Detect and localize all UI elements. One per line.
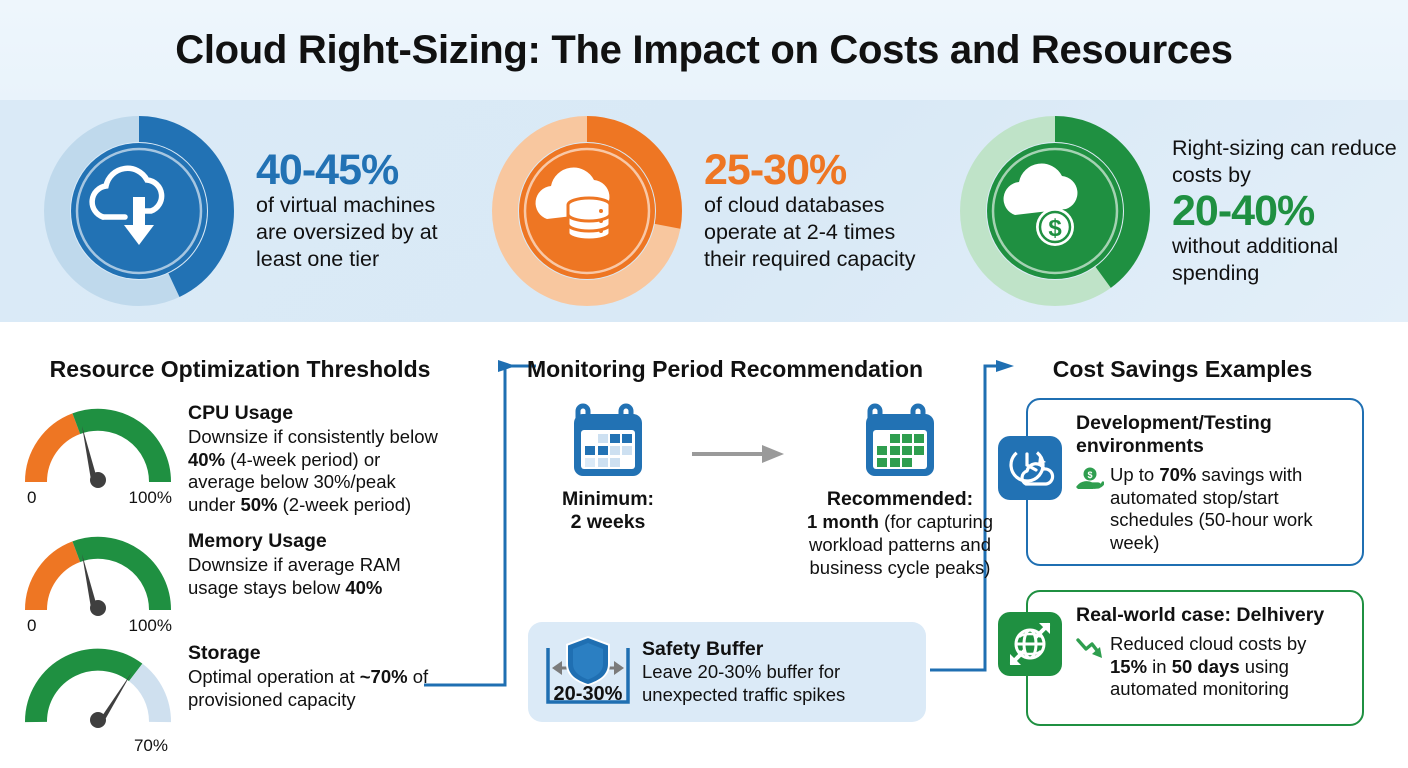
infographic-page: Cloud Right-Sizing: The Impact on Costs …: [0, 0, 1408, 768]
stat-value-db: 25-30%: [704, 149, 940, 192]
key-stats-band: 40-45% of virtual machines are oversized…: [0, 100, 1408, 322]
safety-buffer-measure-label: 20-30%: [554, 683, 623, 705]
gauge-storage: 70%: [18, 642, 178, 734]
stat-text-savings: Right-sizing can reduce costs by 20-40% …: [1150, 135, 1408, 286]
gauge-title-cpu: CPU Usage: [188, 402, 446, 425]
shield-icon: 20-30%: [540, 628, 640, 712]
gauge-label-max-memory: 100%: [129, 616, 172, 636]
svg-text:$: $: [1087, 470, 1092, 480]
monitoring-recommended: Recommended: 1 month (for capturing work…: [796, 400, 1004, 579]
safety-buffer-body: Leave 20-30% buffer for unexpected traff…: [642, 661, 926, 706]
stat-card-cloud-databases: 25-30% of cloud databases operate at 2-4…: [470, 100, 940, 322]
gauge-body-storage: Optimal operation at ~70% of provisioned…: [188, 666, 446, 711]
gauge-label-min-cpu: 0: [27, 488, 36, 508]
stat-desc-vm: of virtual machines are oversized by at …: [256, 192, 470, 273]
gauge-svg-storage: [18, 642, 178, 734]
case-title-delhivery: Real-world case: Delhivery: [1076, 604, 1348, 627]
title-band: Cloud Right-Sizing: The Impact on Costs …: [0, 0, 1408, 100]
gauge-label-min-memory: 0: [27, 616, 36, 636]
monitoring-period-block: Minimum: 2 weeks: [528, 400, 1004, 579]
gauge-body-memory: Downsize if average RAM usage stays belo…: [188, 554, 446, 599]
gauge-text-cpu: CPU Usage Downsize if consistently below…: [178, 402, 446, 516]
lower-section: Resource Optimization Thresholds 0 100% …: [0, 322, 1408, 768]
gauge-title-memory: Memory Usage: [188, 530, 446, 553]
gauge-cpu: 0 100%: [18, 402, 178, 488]
stat-value-savings: 20-40%: [1172, 190, 1408, 233]
calendar-blue-icon: [570, 400, 646, 480]
donut-svg-db: [492, 116, 682, 306]
case-body-dev-testing: Development/Testing environments $ Up to…: [1028, 400, 1362, 564]
calendar-green-icon: [862, 400, 938, 480]
page-title: Cloud Right-Sizing: The Impact on Costs …: [175, 28, 1233, 73]
stat-lead-savings: Right-sizing can reduce costs by: [1172, 135, 1408, 189]
case-card-delhivery: Real-world case: Delhivery Reduced cloud…: [1026, 590, 1364, 726]
donut-chart-vm: [44, 116, 234, 306]
stat-card-virtual-machines: 40-45% of virtual machines are oversized…: [0, 100, 470, 322]
donut-svg-vm: [44, 116, 234, 306]
gauge-text-memory: Memory Usage Downsize if average RAM usa…: [178, 530, 446, 599]
gauge-row-cpu: 0 100% CPU Usage Downsize if consistentl…: [18, 402, 446, 516]
case-title-dev-testing: Development/Testing environments: [1076, 412, 1348, 458]
safety-buffer-title: Safety Buffer: [642, 638, 926, 661]
case-body-delhivery: Real-world case: Delhivery Reduced cloud…: [1028, 592, 1362, 711]
donut-chart-savings: $: [960, 116, 1150, 306]
hand-money-icon: $: [1076, 464, 1110, 498]
stat-desc-savings: without additional spending: [1172, 233, 1408, 287]
case-line-delhivery: Reduced cloud costs by 15% in 50 days us…: [1076, 633, 1348, 701]
donut-svg-savings: $: [960, 116, 1150, 306]
gauge-row-memory: 0 100% Memory Usage Downsize if average …: [18, 530, 446, 616]
gauge-text-storage: Storage Optimal operation at ~70% of pro…: [178, 642, 446, 711]
gauge-body-cpu: Downsize if consistently below 40% (4-we…: [188, 426, 446, 516]
stat-value-vm: 40-45%: [256, 149, 470, 192]
gauge-svg-cpu: [18, 402, 178, 488]
donut-chart-db: [492, 116, 682, 306]
gauge-svg-memory: [18, 530, 178, 616]
globe-arrows-icon: [998, 612, 1062, 676]
case-text-dev-testing: Up to 70% savings with automated stop/st…: [1110, 464, 1348, 554]
section-heading-savings: Cost Savings Examples: [975, 356, 1390, 383]
svg-text:$: $: [1048, 215, 1062, 242]
stat-card-cost-reduction: $ Right-sizing can reduce costs by 20-40…: [940, 100, 1408, 322]
section-heading-monitoring: Monitoring Period Recommendation: [510, 356, 940, 383]
monitoring-recommended-value: 1 month (for capturing workload patterns…: [796, 511, 1004, 579]
safety-buffer-text: Safety Buffer Leave 20-30% buffer for un…: [636, 638, 926, 706]
case-card-dev-testing: Development/Testing environments $ Up to…: [1026, 398, 1364, 566]
clock-cloud-icon: [998, 436, 1062, 500]
section-heading-thresholds: Resource Optimization Thresholds: [20, 356, 460, 383]
case-line-dev-testing: $ Up to 70% savings with automated stop/…: [1076, 464, 1348, 554]
stat-desc-db: of cloud databases operate at 2-4 times …: [704, 192, 940, 273]
monitoring-minimum: Minimum: 2 weeks: [528, 400, 688, 535]
stat-text-vm: 40-45% of virtual machines are oversized…: [234, 149, 470, 273]
gauge-title-storage: Storage: [188, 642, 446, 665]
safety-buffer-visual: 20-30%: [528, 628, 636, 717]
monitoring-minimum-value: 2 weeks: [528, 511, 688, 534]
stat-text-db: 25-30% of cloud databases operate at 2-4…: [682, 149, 940, 273]
arrow-right-icon: [688, 400, 796, 471]
gauge-memory: 0 100%: [18, 530, 178, 616]
trend-down-icon: [1076, 633, 1110, 667]
gauge-label-storage: 70%: [134, 736, 168, 756]
gauge-label-max-cpu: 100%: [129, 488, 172, 508]
monitoring-recommended-caption: Recommended:: [796, 488, 1004, 511]
gauge-row-storage: 70% Storage Optimal operation at ~70% of…: [18, 642, 446, 734]
monitoring-minimum-caption: Minimum:: [528, 488, 688, 511]
case-text-delhivery: Reduced cloud costs by 15% in 50 days us…: [1110, 633, 1348, 701]
safety-buffer-card: 20-30% Safety Buffer Leave 20-30% buffer…: [528, 622, 926, 722]
